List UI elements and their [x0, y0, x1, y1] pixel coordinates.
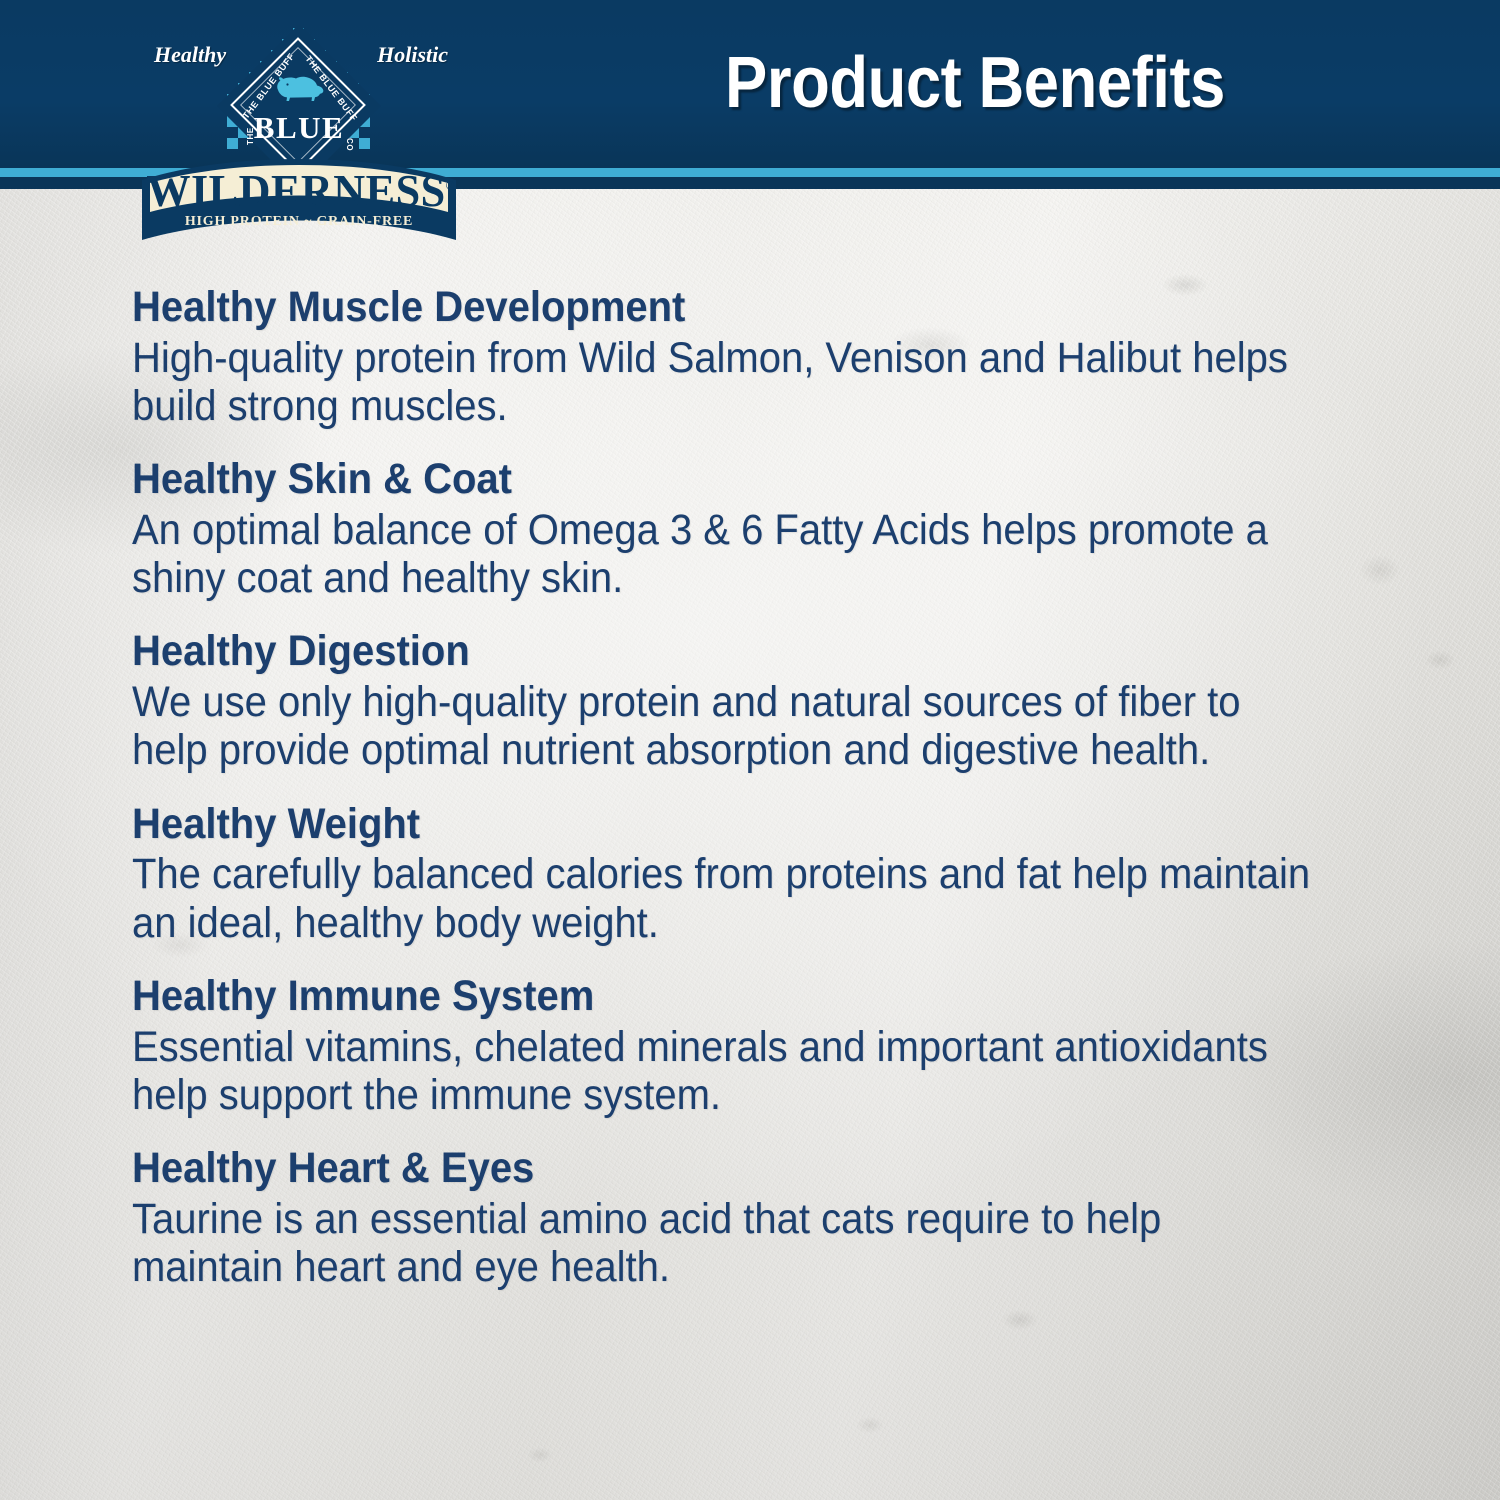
benefit-item: Healthy Heart & Eyes Taurine is an essen…: [132, 1147, 1402, 1291]
benefit-item: Healthy Muscle Development High-quality …: [132, 286, 1402, 430]
benefit-title: Healthy Heart & Eyes: [132, 1147, 1313, 1191]
wilderness-banner: WILDERNESS® HIGH PROTEIN ~ GRAIN-FREE: [140, 150, 458, 242]
benefit-body: We use only high-quality protein and nat…: [132, 678, 1313, 774]
benefit-item: Healthy Digestion We use only high-quali…: [132, 630, 1402, 774]
blue-wilderness-logo: Healthy Holistic: [140, 12, 458, 240]
logo-tagline-holistic: Holistic: [377, 42, 448, 68]
logo-tagline-healthy: Healthy: [154, 42, 226, 68]
benefits-list: Healthy Muscle Development High-quality …: [132, 286, 1402, 1291]
product-benefits-page: Product Benefits Healthy Holistic: [0, 0, 1500, 1500]
brand-name-blue: BLUE: [219, 110, 379, 146]
benefit-body: Essential vitamins, chelated minerals an…: [132, 1023, 1313, 1119]
banner-wordmark: WILDERNESS®: [146, 164, 451, 217]
buffalo-icon: [272, 74, 326, 104]
benefit-title: Healthy Skin & Coat: [132, 458, 1313, 502]
benefit-body: Taurine is an essential amino acid that …: [132, 1195, 1313, 1291]
benefit-title: Healthy Muscle Development: [132, 286, 1313, 330]
benefit-item: Healthy Skin & Coat An optimal balance o…: [132, 458, 1402, 602]
banner-wordmark-text: WILDERNESS: [146, 165, 445, 216]
benefit-item: Healthy Weight The carefully balanced ca…: [132, 803, 1402, 947]
benefit-title: Healthy Digestion: [132, 630, 1313, 674]
benefit-title: Healthy Weight: [132, 803, 1313, 847]
page-title: Product Benefits: [531, 42, 1420, 124]
benefit-body: An optimal balance of Omega 3 & 6 Fatty …: [132, 506, 1313, 602]
registered-trademark-icon: ®: [446, 178, 456, 193]
banner-subtitle: HIGH PROTEIN ~ GRAIN-FREE: [140, 214, 458, 230]
benefit-body: High-quality protein from Wild Salmon, V…: [132, 334, 1313, 430]
benefit-body: The carefully balanced calories from pro…: [132, 850, 1313, 946]
benefit-item: Healthy Immune System Essential vitamins…: [132, 975, 1402, 1119]
benefit-title: Healthy Immune System: [132, 975, 1313, 1019]
